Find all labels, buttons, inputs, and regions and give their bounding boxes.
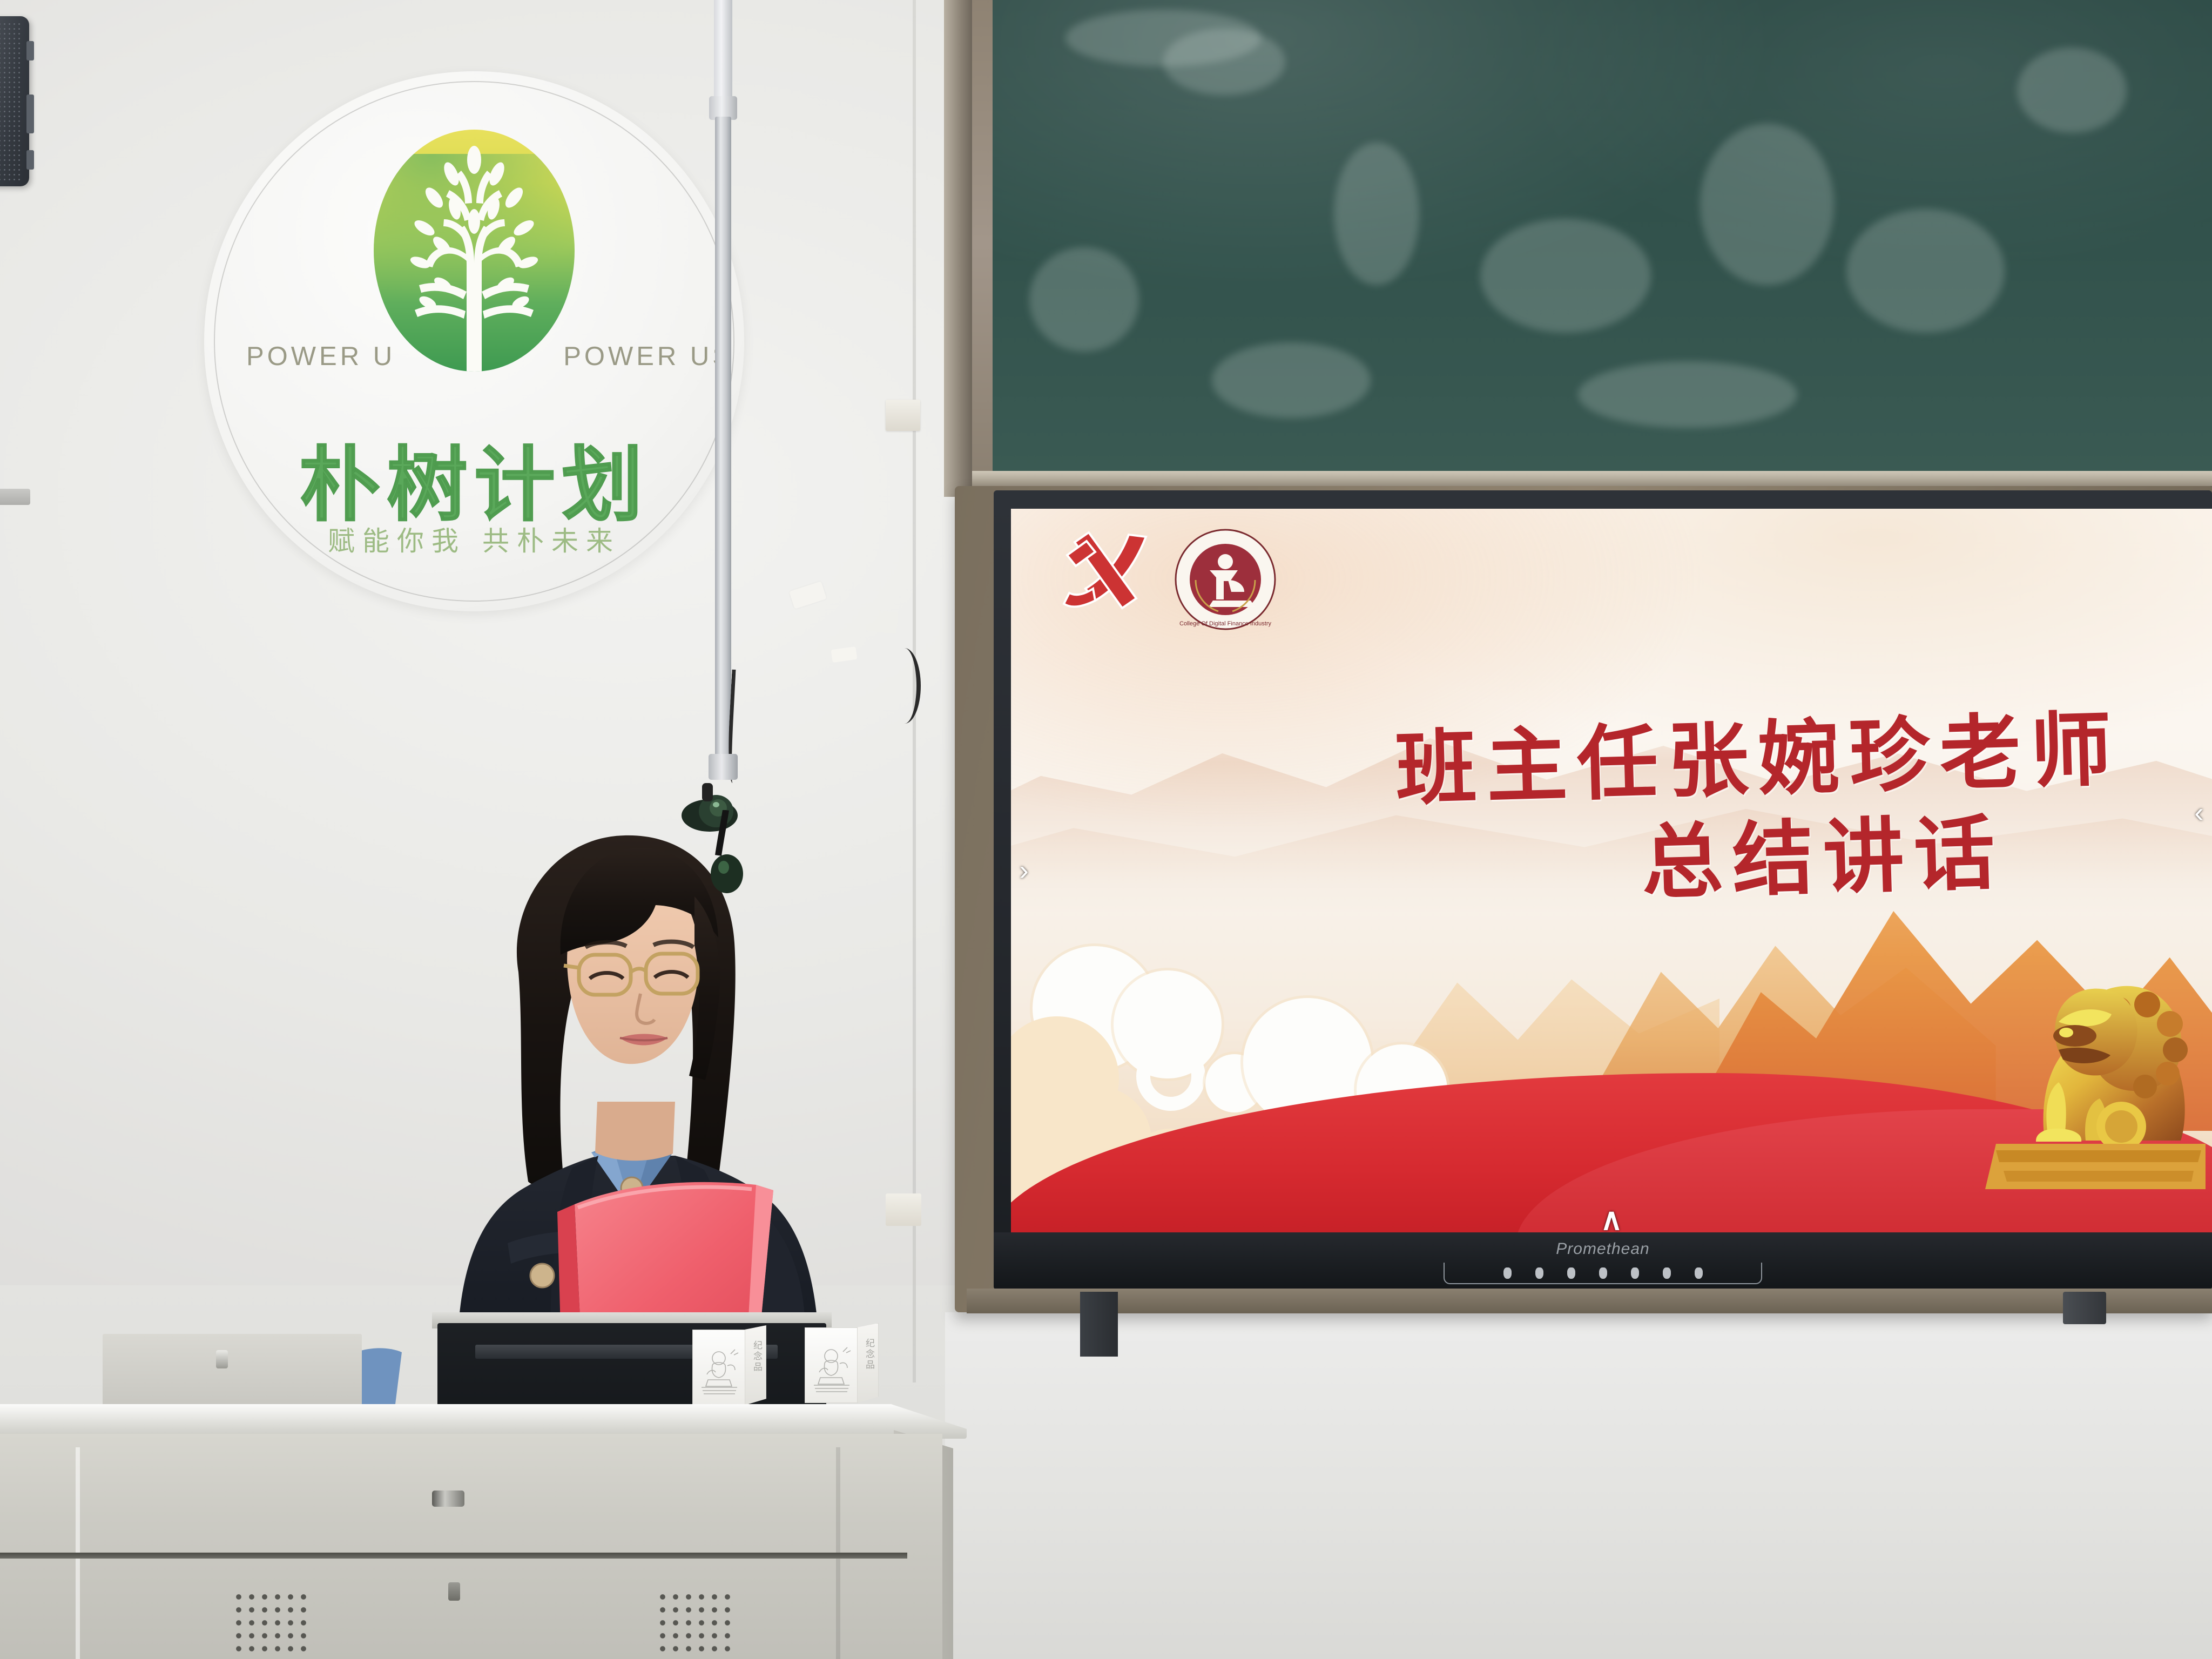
lectern-lock[interactable] [448, 1582, 460, 1601]
chevron-left-icon[interactable]: ‹ [2187, 791, 2211, 834]
slide-title: 班主任张婉珍老师 总结讲话 [1337, 714, 2180, 905]
home-button[interactable] [1599, 1267, 1607, 1279]
gift-box-right[interactable]: 纪念品 [805, 1322, 878, 1403]
lectern-body [0, 1434, 942, 1659]
screen-wall-bracket [2063, 1292, 2106, 1324]
gift-box-front [692, 1330, 745, 1405]
lectern-latch[interactable] [432, 1491, 464, 1507]
blackboard-left-rail [944, 0, 972, 497]
wall-tape-mark [858, 608, 899, 634]
volume-down-button[interactable] [1567, 1267, 1575, 1279]
screen-bottom-rail [967, 1289, 2212, 1313]
wall-lower-right [945, 1312, 2212, 1659]
projector-mount-pole [714, 0, 732, 100]
gift-box-side-text: 纪念品 [861, 1338, 876, 1371]
wall-logo-disc: POWER U POWER US 朴树计划 赋能你我 共朴未来 [204, 71, 744, 611]
power-outlet[interactable] [886, 400, 920, 431]
school-emblem-icon: College Of Digital Finance Industry [1174, 528, 1277, 631]
classroom-scene: POWER U POWER US 朴树计划 赋能你我 共朴未来 [0, 0, 2212, 1659]
volume-up-button[interactable] [1663, 1267, 1671, 1279]
lectern-speaker-grille [656, 1590, 737, 1659]
speaker-tab [26, 150, 34, 170]
guardian-lion-icon [1980, 908, 2207, 1189]
pole-shaft [715, 117, 731, 765]
lectern-top-shelf [103, 1334, 362, 1415]
slide-emblems: College Of Digital Finance Industry [1055, 528, 1277, 631]
wall-cable [888, 648, 921, 724]
cloud-swirl [1136, 1042, 1205, 1111]
power-outlet[interactable] [886, 1193, 921, 1226]
lectern-panel-seam [0, 1553, 907, 1559]
logo-power-right: POWER US [563, 341, 733, 372]
gift-box-front [805, 1327, 858, 1403]
school-emblem-en: College Of Digital Finance Industry [1179, 621, 1271, 627]
blackboard [993, 0, 2212, 475]
slide-title-line2: 总结讲话 [1401, 801, 2212, 915]
gift-box-illustration [810, 1340, 854, 1397]
logo-slogan-cn: 赋能你我 共朴未来 [204, 520, 744, 558]
screen-chin: Promethean [994, 1232, 2212, 1290]
lectern-speaker-grille [232, 1590, 313, 1659]
screen-wall-bracket [1080, 1292, 1118, 1357]
blackboard-chalk-ledge [972, 471, 2212, 486]
slide-title-line1: 班主任张婉珍老师 [1336, 702, 2181, 816]
wall-bracket [0, 489, 30, 505]
settings-button[interactable] [1695, 1267, 1703, 1279]
wall-speaker-icon [0, 16, 29, 186]
gift-box-side-text: 纪念品 [748, 1340, 764, 1373]
gift-box-illustration [697, 1342, 741, 1399]
gift-box-left[interactable]: 纪念品 [692, 1324, 766, 1405]
chevron-right-icon[interactable]: › [1012, 849, 1036, 892]
pole-foot [709, 754, 738, 780]
logo-hill [374, 154, 575, 299]
logo-power-left: POWER U [246, 341, 395, 372]
presentation-slide[interactable]: College Of Digital Finance Industry 班主任张… [1011, 509, 2212, 1232]
speaker-mesh [0, 22, 21, 181]
chevron-up-icon[interactable]: ∧ [1601, 1204, 1623, 1232]
input-button[interactable] [1631, 1267, 1639, 1279]
promethean-logo: Promethean [1556, 1240, 1649, 1258]
hammer-and-sickle-icon [1055, 528, 1156, 620]
speaker-tab [26, 95, 34, 133]
menu-button[interactable] [1535, 1267, 1543, 1279]
lectern-knob[interactable] [216, 1350, 228, 1368]
power-button[interactable] [1503, 1267, 1512, 1279]
screen-button-strip[interactable] [1444, 1263, 1762, 1284]
logo-name-cn: 朴树计划 [204, 420, 744, 537]
tree-svg [374, 130, 575, 372]
speaker-tab [26, 41, 34, 60]
tree-icon [374, 130, 575, 372]
